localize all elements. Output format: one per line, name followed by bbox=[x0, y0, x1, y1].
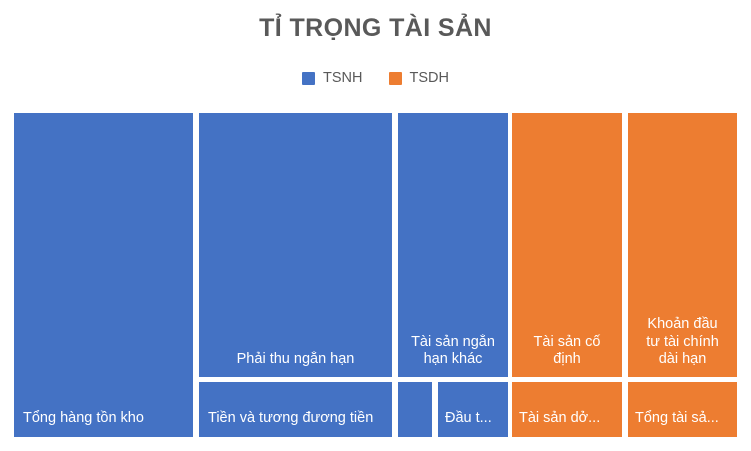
chart-title: TỈ TRỌNG TÀI SẢN bbox=[0, 14, 751, 43]
treemap-tile-label: Khoản đầu tư tài chính dài hạn bbox=[632, 316, 733, 369]
treemap-tile-tai-san-co-dinh[interactable]: Tài sản cố định bbox=[512, 113, 622, 377]
treemap-tile-small-unlabeled[interactable] bbox=[398, 382, 432, 437]
treemap-tile-label: Đầu t... bbox=[445, 410, 504, 428]
treemap-tile-label: Tổng hàng tồn kho bbox=[23, 410, 187, 428]
treemap-tile-tong-tai-san[interactable]: Tổng tài sả... bbox=[628, 382, 737, 437]
treemap-tile-tien-va-tuong-duong-tien[interactable]: Tiền và tương đương tiền bbox=[199, 382, 392, 437]
treemap-tile-label: Tiền và tương đương tiền bbox=[208, 410, 386, 428]
treemap-tile-tai-san-do[interactable]: Tài sản dở... bbox=[512, 382, 622, 437]
treemap-tile-khoan-dau-tu-tai-chinh-dai-han[interactable]: Khoản đầu tư tài chính dài hạn bbox=[628, 113, 737, 377]
treemap-tile-tong-hang-ton-kho[interactable]: Tổng hàng tồn kho bbox=[14, 113, 193, 437]
treemap-tile-phai-thu-ngan-han[interactable]: Phải thu ngắn hạn bbox=[199, 113, 392, 377]
treemap-tile-label: Tài sản ngắn hạn khác bbox=[402, 334, 504, 369]
treemap-chart: TỈ TRỌNG TÀI SẢN TSNH TSDH Tổng hàng tồn… bbox=[0, 0, 751, 451]
treemap-tile-label: Phải thu ngắn hạn bbox=[203, 351, 388, 369]
legend-item-tsdh[interactable]: TSDH bbox=[389, 70, 449, 86]
treemap-tile-label: Tổng tài sả... bbox=[635, 410, 733, 428]
treemap-tile-label: Tài sản cố định bbox=[516, 334, 618, 369]
treemap-plot-area: Tổng hàng tồn kho Phải thu ngắn hạn Tiền… bbox=[14, 113, 737, 437]
treemap-tile-dau-tu[interactable]: Đầu t... bbox=[438, 382, 508, 437]
legend-label-tsdh: TSDH bbox=[410, 70, 449, 86]
legend-label-tsnh: TSNH bbox=[323, 70, 362, 86]
treemap-tile-label: Tài sản dở... bbox=[519, 410, 618, 428]
legend-swatch-tsdh bbox=[389, 72, 402, 85]
legend-swatch-tsnh bbox=[302, 72, 315, 85]
chart-legend: TSNH TSDH bbox=[0, 70, 751, 86]
legend-item-tsnh[interactable]: TSNH bbox=[302, 70, 362, 86]
treemap-tile-tai-san-ngan-han-khac[interactable]: Tài sản ngắn hạn khác bbox=[398, 113, 508, 377]
